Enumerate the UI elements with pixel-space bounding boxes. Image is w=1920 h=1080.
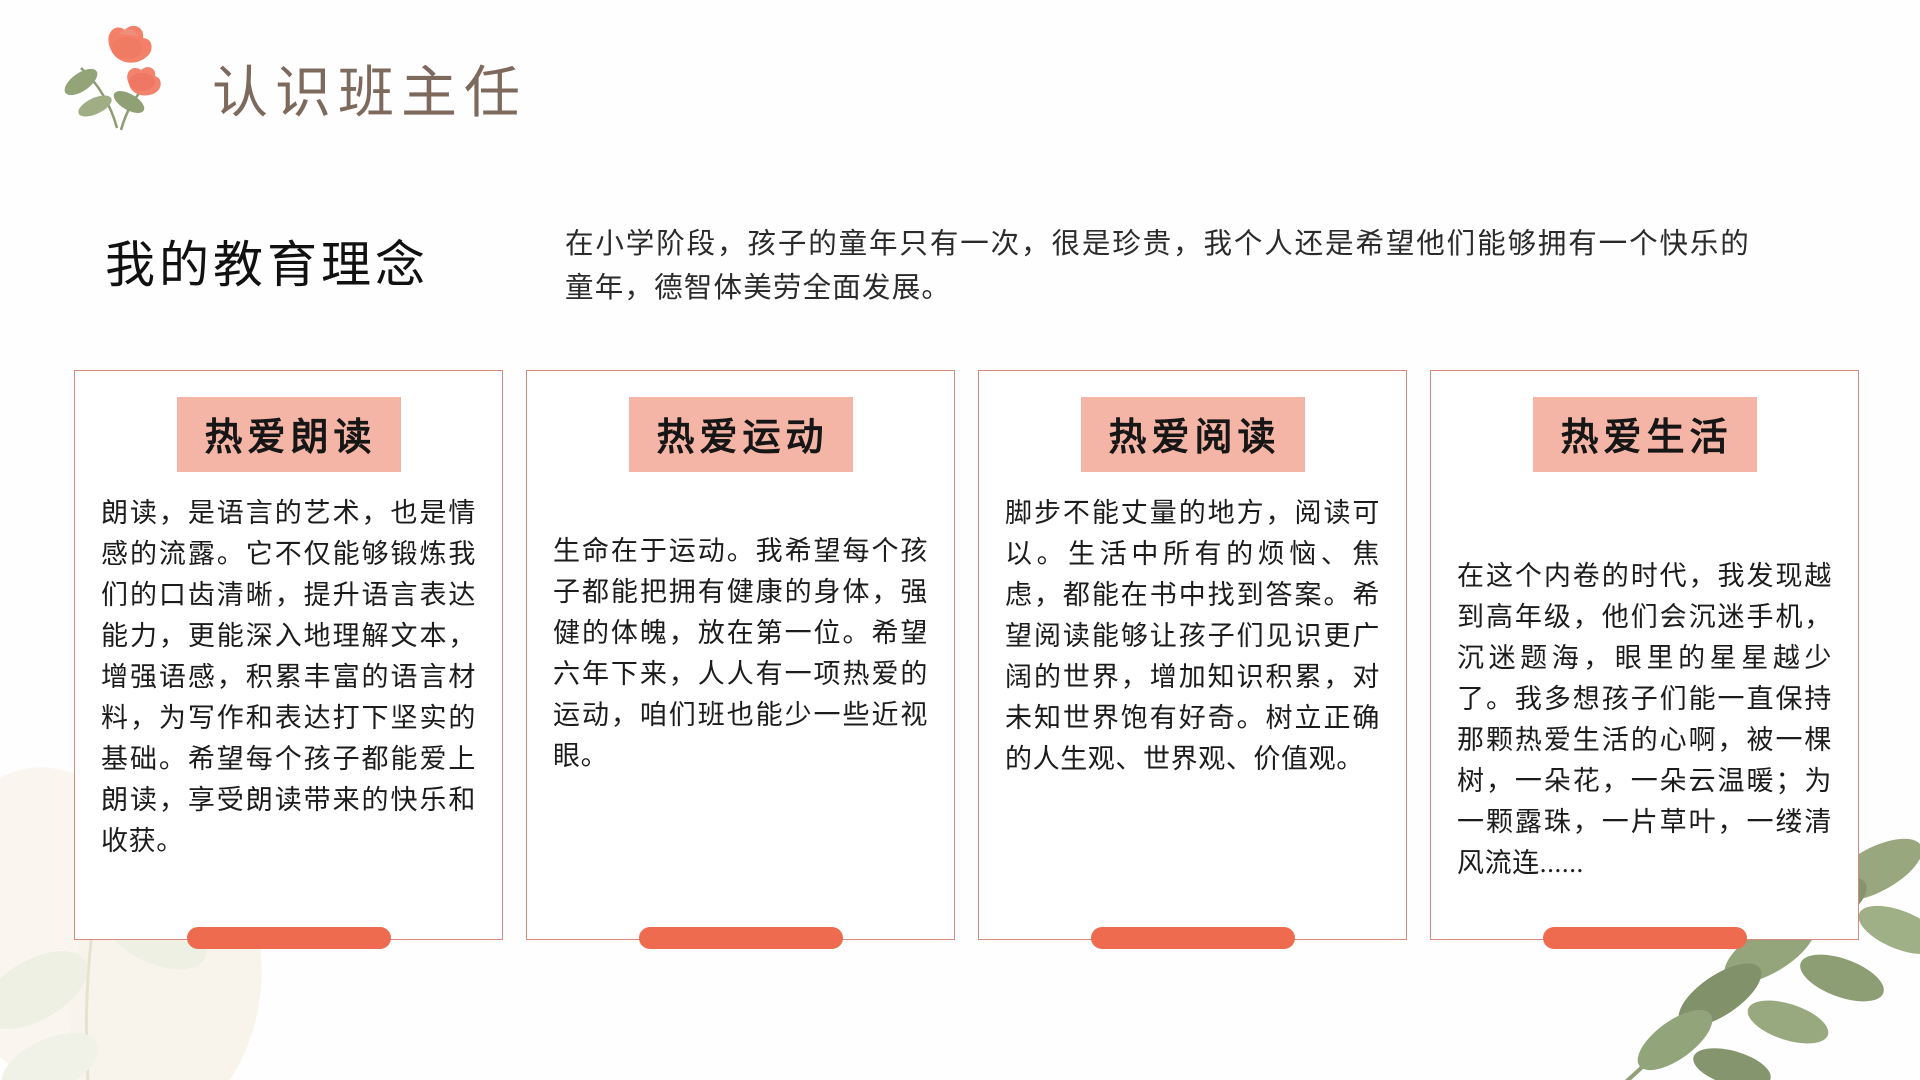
card-accent-bar: [187, 927, 391, 949]
intro-section: 我的教育理念 在小学阶段，孩子的童年只有一次，很是珍贵，我个人还是希望他们能够拥…: [0, 215, 1920, 325]
card-accent-bar: [1543, 927, 1747, 949]
card-body-text: 在这个内卷的时代，我发现越到高年级，他们会沉迷手机，沉迷题海，眼里的星星越少了。…: [1431, 556, 1858, 884]
card-reading-aloud[interactable]: 热爱朗读 朗读，是语言的艺术，也是情感的流露。它不仅能够锻炼我们的口齿清晰，提升…: [74, 370, 503, 940]
page-title: 认识班主任: [212, 48, 527, 129]
card-body-text: 朗读，是语言的艺术，也是情感的流露。它不仅能够锻炼我们的口齿清晰，提升语言表达能…: [75, 493, 502, 862]
watercolor-flower-icon: [55, 10, 195, 155]
card-title-badge: 热爱阅读: [1080, 397, 1304, 472]
card-title-badge: 热爱运动: [628, 397, 852, 472]
card-title-badge: 热爱生活: [1532, 397, 1756, 472]
slide-root: 认识班主任 我的教育理念 在小学阶段，孩子的童年只有一次，很是珍贵，我个人还是希…: [0, 0, 1920, 1080]
card-accent-bar: [1091, 927, 1295, 949]
card-reading[interactable]: 热爱阅读 脚步不能丈量的地方，阅读可以。生活中所有的烦恼、焦虑，都能在书中找到答…: [978, 370, 1407, 940]
card-sports[interactable]: 热爱运动 生命在于运动。我希望每个孩子都能把拥有健康的身体，强健的体魄，放在第一…: [526, 370, 955, 940]
section-heading: 我的教育理念: [105, 225, 429, 297]
card-title-badge: 热爱朗读: [176, 397, 400, 472]
card-accent-bar: [639, 927, 843, 949]
cards-container: 热爱朗读 朗读，是语言的艺术，也是情感的流露。它不仅能够锻炼我们的口齿清晰，提升…: [74, 370, 1859, 940]
slide-header: 认识班主任: [0, 0, 1920, 175]
intro-paragraph: 在小学阶段，孩子的童年只有一次，很是珍贵，我个人还是希望他们能够拥有一个快乐的童…: [565, 223, 1750, 311]
card-body-text: 生命在于运动。我希望每个孩子都能把拥有健康的身体，强健的体魄，放在第一位。希望六…: [527, 531, 954, 777]
card-life[interactable]: 热爱生活 在这个内卷的时代，我发现越到高年级，他们会沉迷手机，沉迷题海，眼里的星…: [1430, 370, 1859, 940]
card-body-text: 脚步不能丈量的地方，阅读可以。生活中所有的烦恼、焦虑，都能在书中找到答案。希望阅…: [979, 493, 1406, 780]
